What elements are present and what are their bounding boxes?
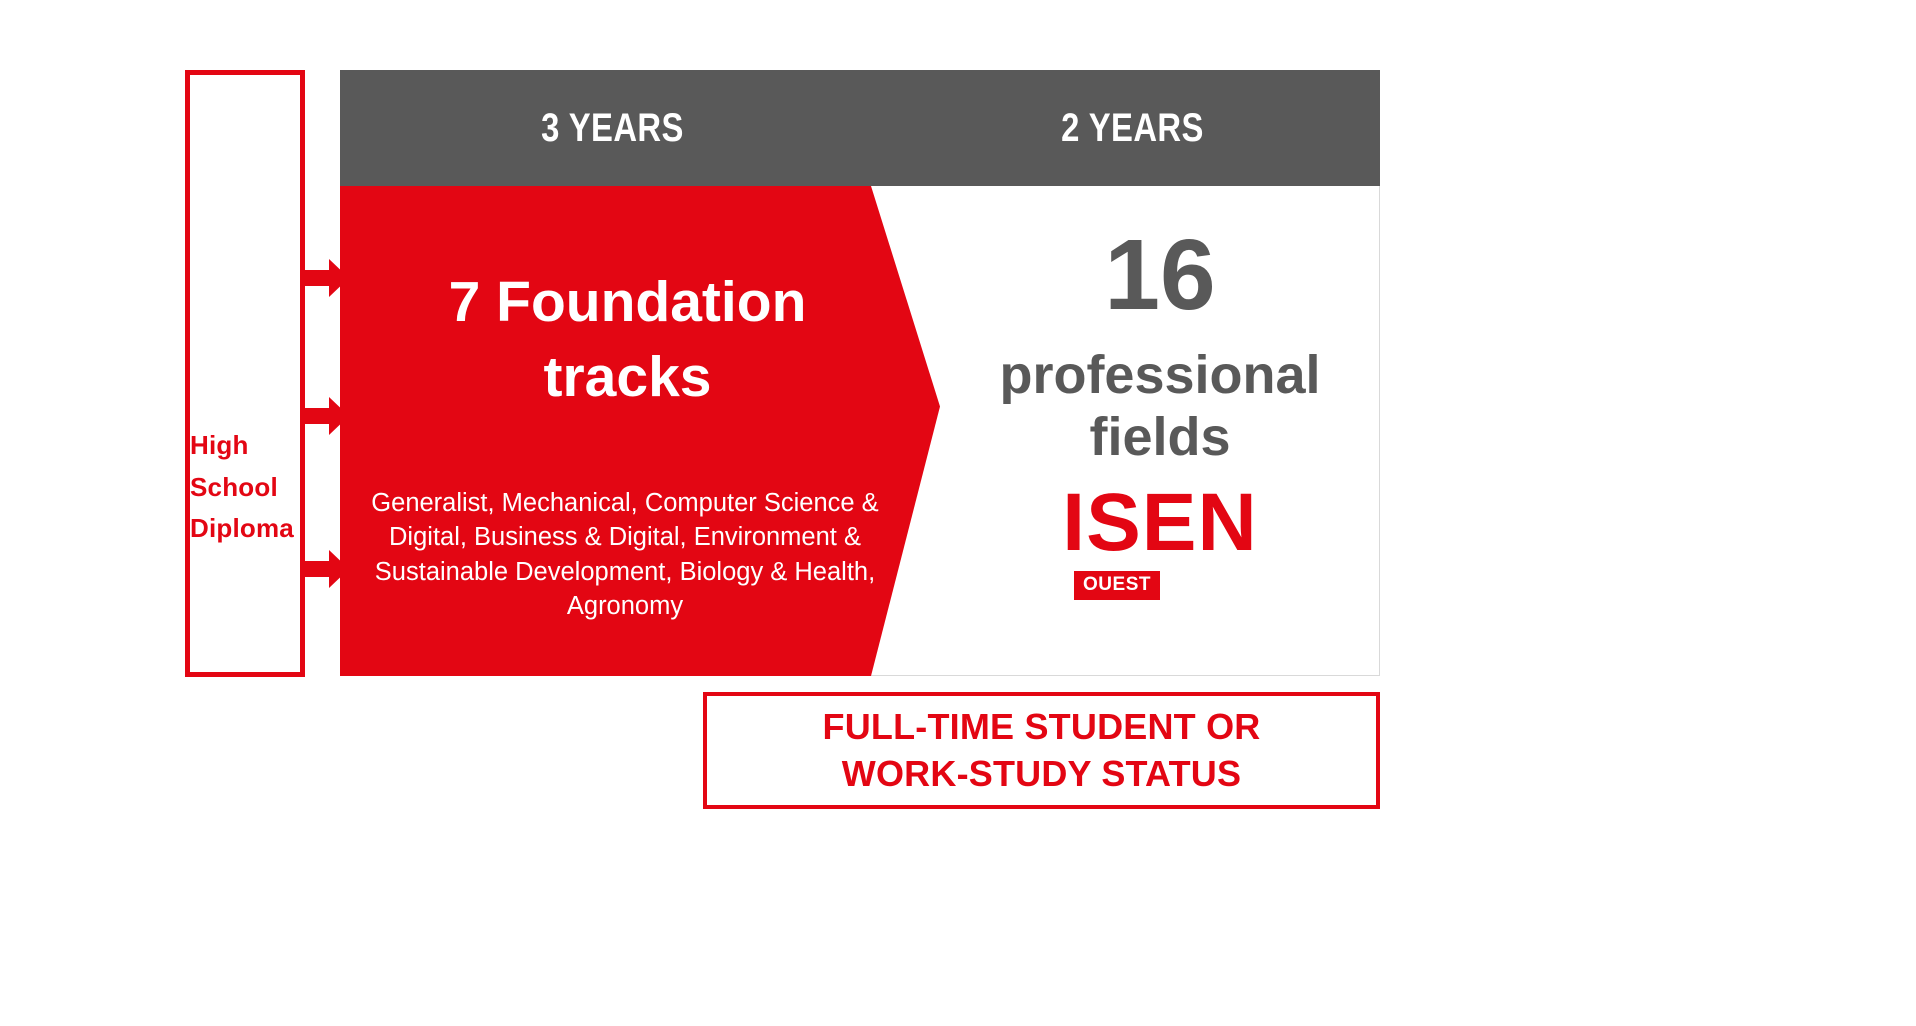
isen-logo-wordmark: ISEN (940, 482, 1380, 564)
foundation-tracks-description: Generalist, Mechanical, Computer Science… (370, 486, 880, 624)
status-banner-text: FULL-TIME STUDENT OR WORK-STUDY STATUS (823, 704, 1261, 796)
status-banner: FULL-TIME STUDENT OR WORK-STUDY STATUS (703, 692, 1380, 809)
high-school-diploma-label: High School Diploma (190, 425, 320, 550)
foundation-tracks-title: 7 Foundation tracks (355, 265, 900, 415)
professional-fields-count: 16 (940, 225, 1380, 325)
duration-label-3-years: 3 YEARS (389, 70, 836, 186)
isen-logo: ISEN OUEST (940, 482, 1380, 600)
high-school-diploma-box (185, 70, 305, 677)
duration-label-2-years: 2 YEARS (930, 70, 1336, 186)
professional-fields-label: professional fields (940, 345, 1380, 468)
duration-header-band: 3 YEARS 2 YEARS (340, 70, 1380, 186)
isen-logo-tagline: OUEST (1074, 571, 1160, 600)
diagram-canvas: High School Diploma 3 YEARS 2 YEARS 7 Fo… (0, 0, 1916, 1026)
